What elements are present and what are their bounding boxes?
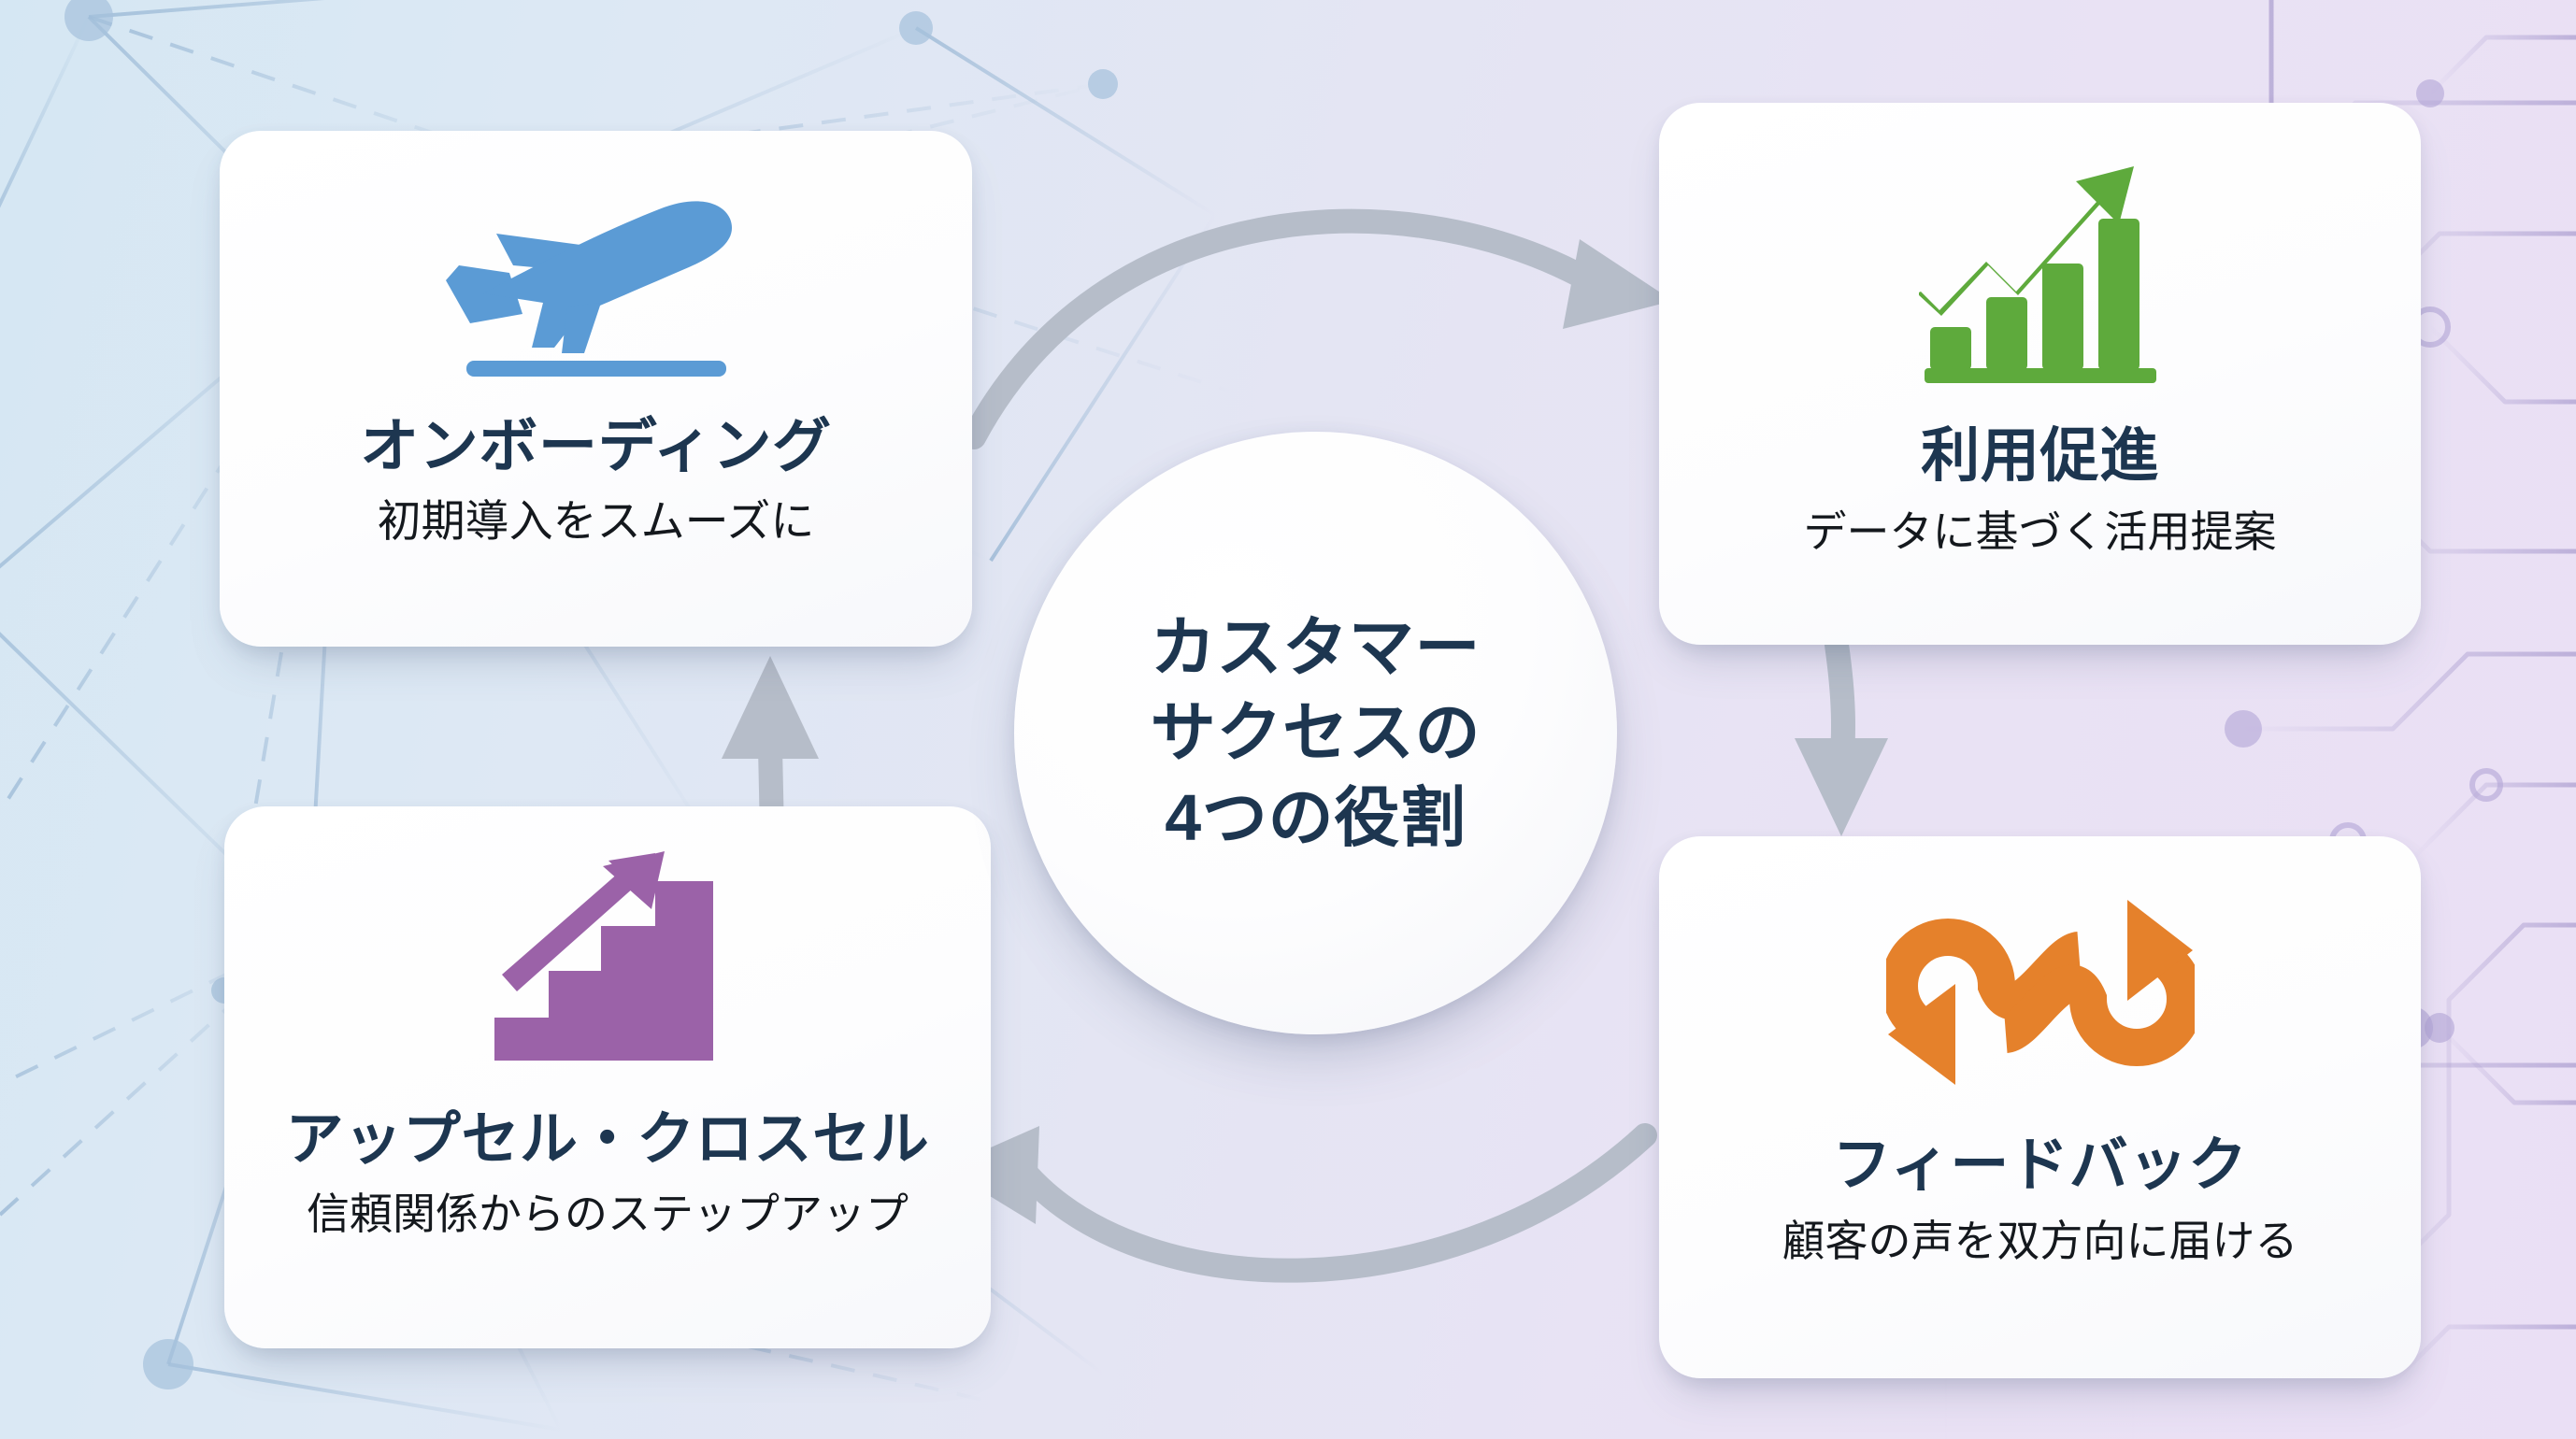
card-title: アップセル・クロスセル bbox=[286, 1109, 930, 1172]
hub-line-2: サクセスの bbox=[1151, 691, 1481, 776]
hub-line-3: 4つの役割 bbox=[1165, 776, 1466, 861]
card-title: フィードバック bbox=[1832, 1133, 2247, 1197]
card-title: オンボーディング bbox=[360, 415, 832, 478]
card-feedback[interactable]: フィードバック 顧客の声を双方向に届ける bbox=[1659, 836, 2421, 1378]
card-subtitle: 顧客の声を双方向に届ける bbox=[1782, 1218, 2298, 1266]
card-subtitle: 初期導入をスムーズに bbox=[378, 497, 815, 547]
airplane-takeoff-icon bbox=[442, 183, 751, 379]
hub-line-1: カスタマー bbox=[1151, 606, 1481, 691]
card-subtitle: 信頼関係からのステップアップ bbox=[307, 1190, 909, 1239]
center-hub[interactable]: カスタマー サクセスの 4つの役割 bbox=[1014, 432, 1617, 1034]
card-onboarding[interactable]: オンボーディング 初期導入をスムーズに bbox=[220, 131, 972, 647]
infinity-cycle-arrows-icon bbox=[1886, 894, 2195, 1090]
growth-bar-chart-icon bbox=[1919, 161, 2162, 385]
card-title: 利用促進 bbox=[1921, 424, 2159, 488]
card-subtitle: データに基づく活用提案 bbox=[1804, 508, 2277, 557]
stairs-up-arrow-icon bbox=[481, 851, 734, 1072]
card-upsell[interactable]: アップセル・クロスセル 信頼関係からのステップアップ bbox=[224, 806, 991, 1348]
card-adoption[interactable]: 利用促進 データに基づく活用提案 bbox=[1659, 103, 2421, 645]
diagram-canvas: オンボーディング 初期導入をスムーズに 利用促進 データに基づく活用提案 bbox=[0, 0, 2576, 1439]
